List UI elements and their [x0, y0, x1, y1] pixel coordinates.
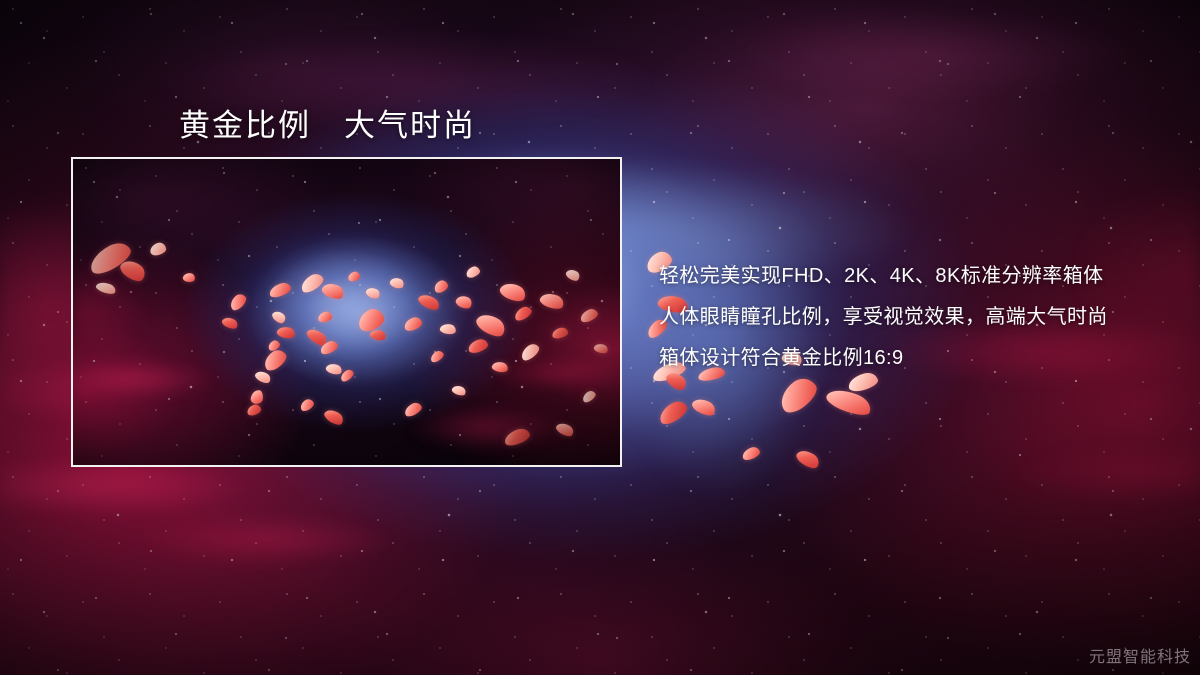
- petal: [794, 446, 822, 471]
- petal: [298, 397, 315, 412]
- body-copy: 轻松完美实现FHD、2K、4K、8K标准分辨率箱体 人体眼睛瞳孔比例，享受视觉效…: [659, 256, 1179, 379]
- petal: [465, 265, 482, 279]
- petal: [451, 384, 467, 398]
- inner-nebula-filaments: [73, 159, 620, 465]
- petal-cluster-framed: [73, 159, 620, 465]
- petal: [320, 280, 346, 302]
- petal: [581, 389, 598, 404]
- petal: [254, 369, 273, 386]
- petal: [416, 291, 441, 312]
- petal: [325, 362, 343, 376]
- framed-image-content: [73, 159, 620, 465]
- petal: [512, 304, 533, 322]
- petal: [261, 347, 290, 374]
- petal: [491, 360, 509, 374]
- slide-canvas: 黄金比例 大气时尚 轻松完美实现FHD、2K、4K、8K标准分辨率箱体 人体眼睛…: [0, 0, 1200, 675]
- petal: [250, 389, 264, 405]
- petal: [454, 293, 474, 311]
- petal: [347, 271, 361, 283]
- inner-vignette-overlay: [73, 159, 620, 465]
- petal: [389, 276, 406, 291]
- inner-nebula-background: [73, 159, 620, 465]
- petal: [319, 339, 340, 356]
- petal: [339, 368, 356, 383]
- petal: [690, 395, 718, 419]
- petal: [551, 326, 569, 339]
- petal: [741, 445, 762, 461]
- petal: [402, 401, 423, 419]
- petal: [246, 403, 262, 416]
- petal: [502, 426, 531, 447]
- petal: [355, 306, 386, 334]
- watermark: 元盟智能科技: [1089, 643, 1191, 667]
- petal: [824, 384, 874, 420]
- petal: [322, 406, 345, 427]
- petal: [579, 307, 600, 324]
- petal: [474, 309, 509, 340]
- petal: [276, 325, 296, 340]
- inner-starfield-small: [73, 159, 620, 465]
- petal: [268, 281, 293, 299]
- petal: [305, 325, 330, 348]
- body-copy-line-1: 轻松完美实现FHD、2K、4K、8K标准分辨率箱体: [659, 256, 1179, 297]
- petal: [117, 256, 148, 285]
- inner-starfield-large: [73, 159, 620, 465]
- petal: [182, 272, 195, 283]
- petal: [85, 238, 134, 278]
- inner-starfield-medium: [73, 159, 620, 465]
- petal: [369, 328, 387, 342]
- petal: [498, 279, 528, 304]
- petal: [364, 285, 381, 300]
- body-copy-line-3: 箱体设计符合黄金比例16:9: [659, 338, 1179, 379]
- petal: [538, 290, 565, 311]
- petal: [267, 339, 282, 352]
- petal: [656, 398, 690, 428]
- petal: [432, 279, 449, 295]
- petal: [554, 420, 575, 439]
- petal: [317, 311, 333, 323]
- petal: [95, 280, 117, 296]
- petal: [774, 373, 822, 418]
- petal: [467, 337, 490, 354]
- petal: [221, 315, 240, 331]
- petal: [429, 349, 446, 364]
- framed-image: [71, 157, 622, 467]
- page-title: 黄金比例 大气时尚: [179, 100, 476, 145]
- petal: [270, 309, 287, 326]
- petal: [227, 292, 248, 313]
- petal: [298, 271, 326, 295]
- petal: [439, 322, 457, 335]
- petal: [518, 341, 541, 362]
- body-copy-line-2: 人体眼睛瞳孔比例，享受视觉效果，高端大气时尚: [659, 297, 1179, 338]
- petal: [149, 241, 167, 256]
- petal: [593, 342, 609, 355]
- petal: [403, 316, 424, 333]
- petal: [564, 267, 581, 283]
